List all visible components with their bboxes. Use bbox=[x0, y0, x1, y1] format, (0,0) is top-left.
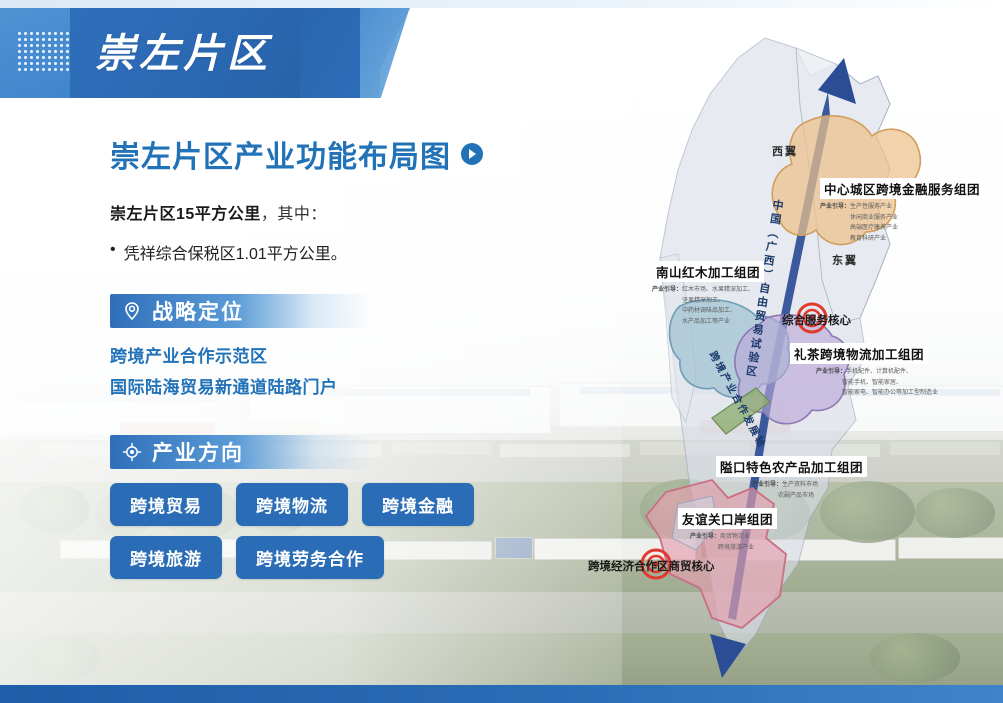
industry-tag-cross-border-labor[interactable]: 跨境劳务合作 bbox=[236, 536, 384, 579]
industry-tag-cross-border-tourism[interactable]: 跨境旅游 bbox=[110, 536, 222, 579]
section-header-bar: 战略定位 bbox=[110, 294, 372, 328]
lead-item: 手机配件、计算机配件、 bbox=[846, 368, 912, 375]
lead-item: 红木市场、水果精深加工、 bbox=[682, 286, 754, 293]
cluster-label-licha-logistics: 礼茶跨境物流加工组团 产业引导：手机配件、计算机配件、 智能手机、智能家居、 智… bbox=[790, 343, 938, 399]
lead-label: 产业引导： bbox=[752, 481, 782, 488]
cluster-title: 友谊关口岸组团 bbox=[678, 508, 777, 529]
positioning-line: 国际陆海贸易新通道陆路门户 bbox=[110, 373, 580, 404]
bullet-dot-icon: • bbox=[110, 240, 116, 259]
banner-title: 崇左片区 bbox=[95, 26, 271, 82]
infographic-page: 崇左片区 崇左片区产业功能布局图 崇左片区15平方公里，其中： • 凭祥综合保税… bbox=[0, 0, 1003, 703]
lead-item: 智能家电、智能办公等加工型制造业 bbox=[790, 388, 938, 399]
industry-tag-list: 跨境贸易 跨境物流 跨境金融 跨境旅游 跨境劳务合作 bbox=[110, 483, 540, 579]
lead-item: 智能手机、智能家居、 bbox=[790, 378, 938, 389]
cluster-lead-list: 产业引导：生产性服务产业 休闲商业服务产业 高端医疗康养产业 教育科研产业 bbox=[820, 202, 984, 244]
lead-item: 商贸物流业 bbox=[720, 533, 750, 540]
lead-item: 生产性服务产业 bbox=[850, 203, 892, 210]
positioning-line: 跨境产业合作示范区 bbox=[110, 342, 580, 373]
zoning-map: 中国（广西）自由贸易试验区 跨境产业合作发展轴 西翼 东翼 综合服务核心 跨境经… bbox=[560, 18, 1003, 688]
left-content-panel: 崇左片区产业功能布局图 崇左片区15平方公里，其中： • 凭祥综合保税区1.01… bbox=[110, 132, 580, 579]
lead-item: 高端医疗康养产业 bbox=[820, 223, 984, 234]
industry-tag-cross-border-finance[interactable]: 跨境金融 bbox=[362, 483, 474, 526]
lead-item: 水产品加工等产业 bbox=[652, 317, 764, 328]
cluster-label-youyiguan-port: 友谊关口岸组团 产业引导：商贸物流业 跨境旅游产业 bbox=[678, 508, 777, 553]
cluster-title: 中心城区跨境金融服务组团 bbox=[820, 178, 984, 199]
industry-tag-cross-border-logistics[interactable]: 跨境物流 bbox=[236, 483, 348, 526]
lead-label: 产业引导： bbox=[652, 286, 682, 293]
cluster-title: 隘口特色农产品加工组团 bbox=[716, 456, 867, 477]
section-body: 跨境产业合作示范区 国际陆海贸易新通道陆路门户 bbox=[110, 342, 580, 405]
cluster-title: 南山红木加工组团 bbox=[652, 261, 764, 282]
area-summary: 崇左片区15平方公里，其中： bbox=[110, 200, 580, 224]
cluster-lead-list: 产业引导：红木市场、水果精深加工、 坚果精深加工、 中药材调味品加工、 水产品加… bbox=[652, 285, 764, 327]
header-top-band bbox=[0, 0, 1003, 8]
page-title: 崇左片区产业功能布局图 bbox=[110, 132, 580, 176]
section-industry-direction: 产业方向 跨境贸易 跨境物流 跨境金融 跨境旅游 跨境劳务合作 bbox=[110, 435, 580, 579]
cluster-lead-list: 产业引导：商贸物流业 跨境旅游产业 bbox=[678, 532, 777, 553]
lead-label: 产业引导： bbox=[690, 533, 720, 540]
core-label-comprehensive-service: 综合服务核心 bbox=[782, 312, 851, 328]
lead-label: 产业引导： bbox=[820, 203, 850, 210]
page-title-text: 崇左片区产业功能布局图 bbox=[110, 132, 451, 176]
bullet-text: 凭祥综合保税区1.01平方公里。 bbox=[124, 240, 347, 264]
dot-grid-icon bbox=[18, 32, 70, 76]
lead-item: 农副产品市场 bbox=[716, 491, 867, 502]
section-header-bar: 产业方向 bbox=[110, 435, 372, 469]
core-label-cooperation-trade: 跨境经济合作区商贸核心 bbox=[588, 558, 715, 574]
footer-bar bbox=[0, 685, 1003, 703]
lead-item: 休闲商业服务产业 bbox=[820, 213, 984, 224]
lead-item: 教育科研产业 bbox=[820, 234, 984, 245]
lead-item: 坚果精深加工、 bbox=[652, 296, 764, 307]
section-title: 战略定位 bbox=[152, 296, 244, 326]
cluster-title: 礼茶跨境物流加工组团 bbox=[790, 343, 928, 364]
area-bullet-item: • 凭祥综合保税区1.01平方公里。 bbox=[110, 240, 580, 264]
play-circle-icon[interactable] bbox=[461, 143, 483, 165]
cluster-label-central-finance: 中心城区跨境金融服务组团 产业引导：生产性服务产业 休闲商业服务产业 高端医疗康… bbox=[820, 178, 984, 244]
cluster-lead-list: 产业引导：手机配件、计算机配件、 智能手机、智能家居、 智能家电、智能办公等加工… bbox=[790, 367, 938, 399]
lead-item: 跨境旅游产业 bbox=[678, 543, 777, 554]
cluster-lead-list: 产业引导：生产资料市场 农副产品市场 bbox=[716, 480, 867, 501]
wing-label-west: 西翼 bbox=[772, 143, 798, 159]
cluster-label-nanshan-redwood: 南山红木加工组团 产业引导：红木市场、水果精深加工、 坚果精深加工、 中药材调味… bbox=[652, 261, 764, 327]
section-strategic-positioning: 战略定位 跨境产业合作示范区 国际陆海贸易新通道陆路门户 bbox=[110, 294, 580, 405]
lead-item: 生产资料市场 bbox=[782, 481, 818, 488]
lead-item: 中药材调味品加工、 bbox=[652, 306, 764, 317]
cluster-label-aikou-agriculture: 隘口特色农产品加工组团 产业引导：生产资料市场 农副产品市场 bbox=[716, 456, 867, 501]
area-summary-rest: ，其中： bbox=[261, 206, 327, 223]
section-title: 产业方向 bbox=[152, 437, 244, 467]
industry-tag-cross-border-trade[interactable]: 跨境贸易 bbox=[110, 483, 222, 526]
area-summary-bold: 崇左片区15平方公里 bbox=[110, 206, 261, 223]
lead-label: 产业引导： bbox=[816, 368, 846, 375]
wing-label-east: 东翼 bbox=[832, 252, 858, 268]
location-pin-icon bbox=[122, 301, 142, 321]
target-crosshair-icon bbox=[122, 442, 142, 462]
